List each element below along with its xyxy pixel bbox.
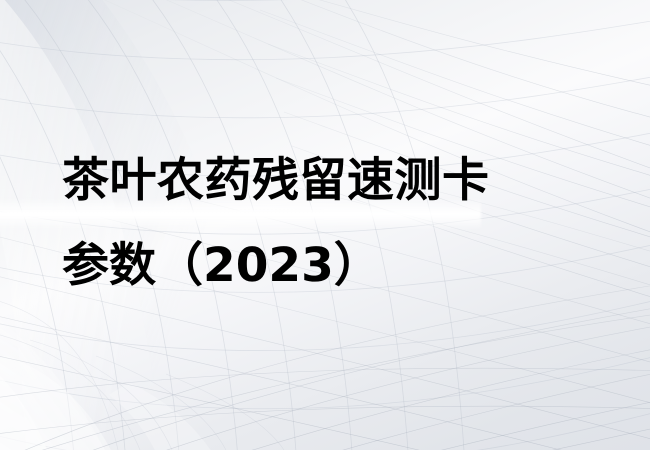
title-banner: 茶叶农药残留速测卡 参数（2023）	[0, 0, 650, 450]
title-line-2: 参数（2023）	[62, 223, 622, 308]
banner-title: 茶叶农药残留速测卡 参数（2023）	[62, 138, 622, 308]
title-line-1: 茶叶农药残留速测卡	[62, 138, 622, 223]
